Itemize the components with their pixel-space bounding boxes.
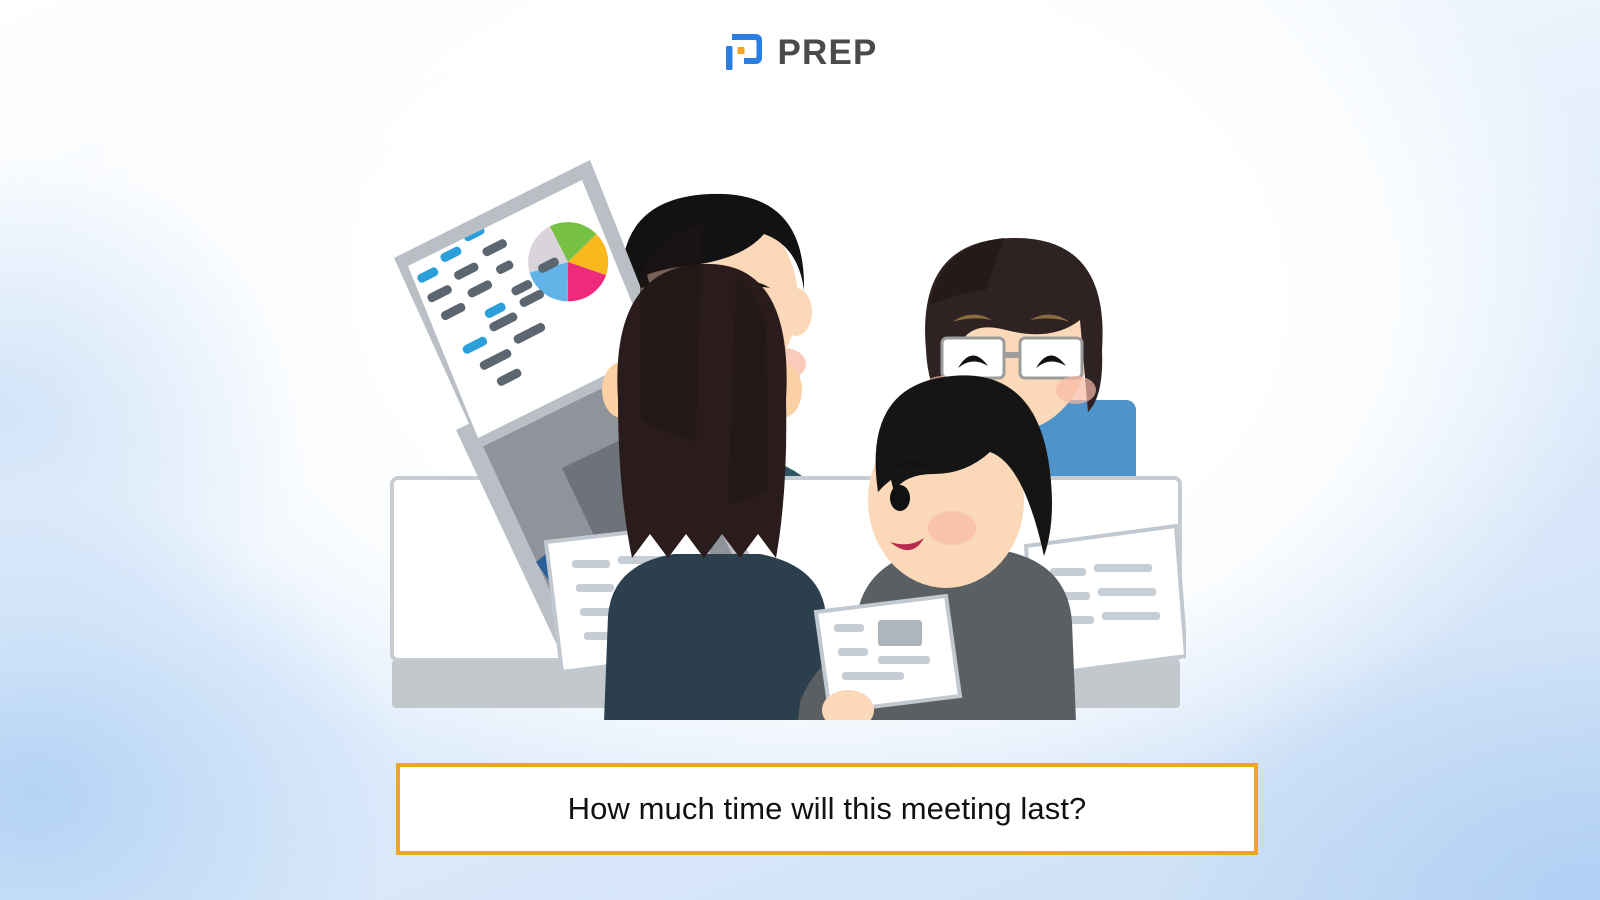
page-root: PREP bbox=[0, 0, 1600, 900]
question-caption-text: How much time will this meeting last? bbox=[568, 791, 1087, 827]
brand-name: PREP bbox=[777, 35, 877, 70]
brand-logo[interactable]: PREP bbox=[0, 30, 1600, 74]
prep-logo-icon bbox=[722, 30, 766, 74]
question-caption-box: How much time will this meeting last? bbox=[396, 763, 1258, 855]
business-meeting-illustration bbox=[386, 100, 1186, 720]
